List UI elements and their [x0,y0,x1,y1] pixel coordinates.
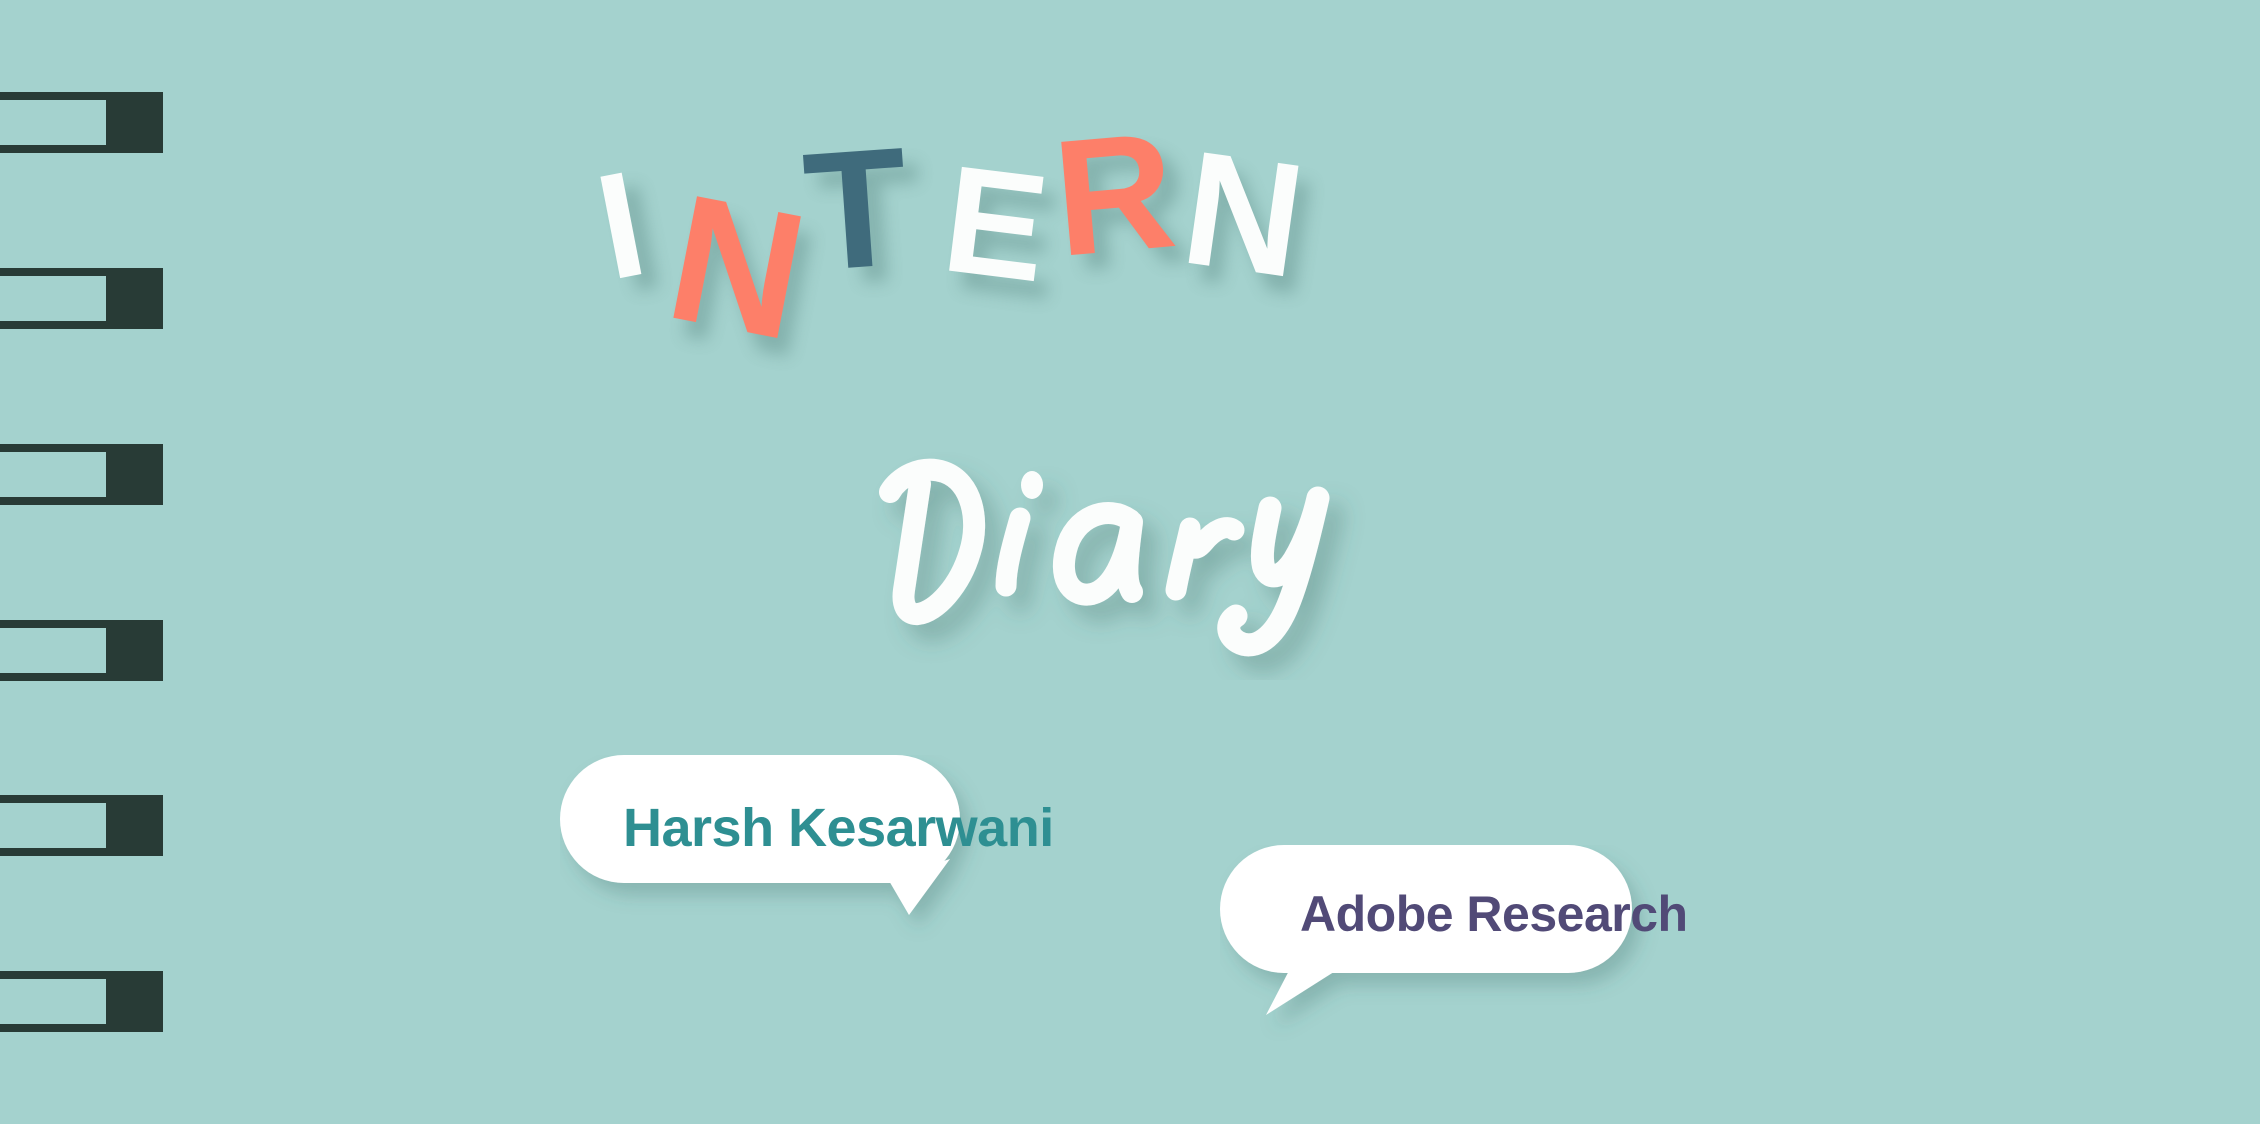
title-letter-N2: N [1174,127,1312,304]
binding-ring-hole [0,628,106,673]
name-bubble-label: Harsh Kesarwani [623,797,1054,859]
binding-ring [0,795,163,856]
org-bubble[interactable]: Adobe Research [1220,845,1880,1055]
binding-ring [0,92,163,153]
binding-ring [0,268,163,329]
binding-ring [0,971,163,1032]
org-bubble-shape [1220,845,1880,1055]
title-letter-T: T [799,122,913,297]
spiral-binding [0,0,170,1124]
binding-ring-hole [0,803,106,848]
poster-canvas: I N T E R N [0,0,2260,1124]
binding-ring-hole [0,452,106,497]
title-letter-E: E [936,142,1055,305]
binding-ring-hole [0,276,106,321]
diary-script-art [860,400,1460,680]
binding-ring [0,620,163,681]
binding-ring-hole [0,100,106,145]
title-letter-I: I [586,147,656,302]
binding-ring [0,444,163,505]
name-bubble[interactable]: Harsh Kesarwani [560,755,1180,965]
name-bubble-shape [560,755,1180,965]
title-letter-N1: N [656,167,818,368]
title-diary [860,400,1460,680]
org-bubble-label: Adobe Research [1300,885,1688,943]
title-letter-R: R [1048,107,1181,282]
binding-ring-hole [0,979,106,1024]
